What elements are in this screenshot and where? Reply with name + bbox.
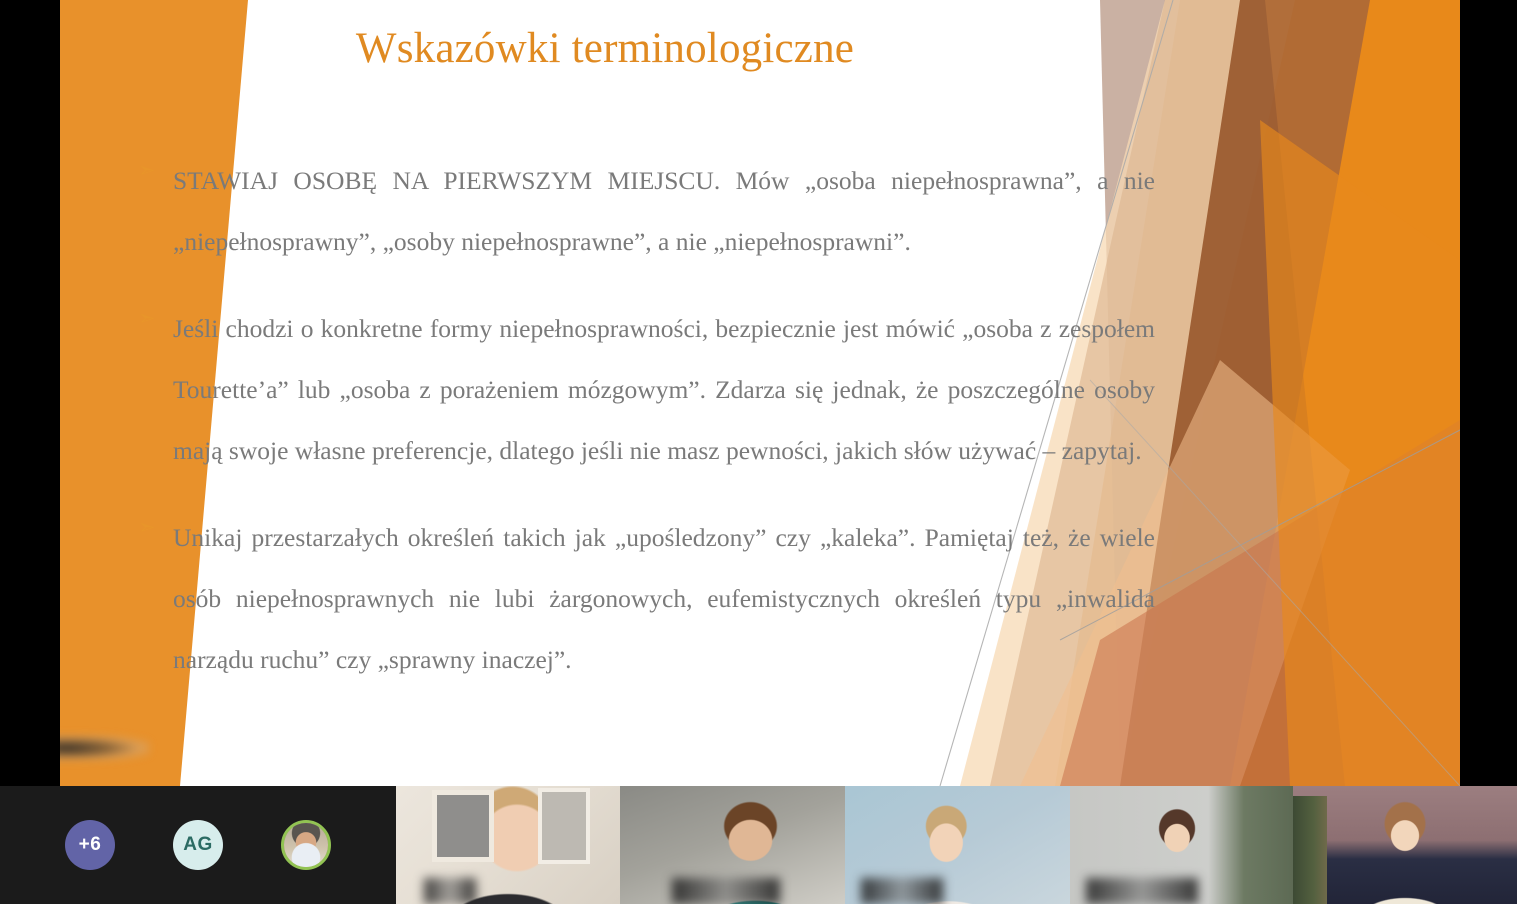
blurred-name-overlay [60,735,150,761]
slide-bullet-item: ➣ STAWIAJ OSOBĘ NA PIERWSZYM MIEJSCU. Mó… [135,150,1155,272]
avatar-photo-image [284,823,328,867]
slide-bullet-list: ➣ STAWIAJ OSOBĘ NA PIERWSZYM MIEJSCU. Mó… [135,150,1155,716]
blurred-name-label [672,878,780,904]
participant-video-tile[interactable] [1070,786,1293,904]
bullet-arrow-icon: ➣ [138,160,160,182]
slide-bullet-text: Jeśli chodzi o konkretne formy niepełnos… [173,298,1155,481]
participant-video-tile[interactable] [396,786,620,904]
slide-bullet-item: ➣ Unikaj przestarzałych określeń takich … [135,507,1155,690]
background-picture-frame-icon [432,790,494,862]
avatar-initials[interactable]: AG [173,820,223,870]
shared-screen-stage[interactable]: Wskazówki terminologiczne ➣ STAWIAJ OSOB… [0,0,1517,786]
powerpoint-slide[interactable]: Wskazówki terminologiczne ➣ STAWIAJ OSOB… [60,0,1460,786]
blurred-name-label [861,878,943,904]
slide-bullet-text: STAWIAJ OSOBĘ NA PIERWSZYM MIEJSCU. Mów … [173,150,1155,272]
slide-bullet-text: Unikaj przestarzałych określeń takich ja… [173,507,1155,690]
bullet-arrow-icon: ➣ [138,517,160,539]
meeting-screen-share-view: Wskazówki terminologiczne ➣ STAWIAJ OSOB… [0,0,1517,904]
participant-video-tile[interactable] [620,786,845,904]
bullet-arrow-icon: ➣ [138,308,160,330]
avatar-pane: +6 AG [0,786,396,904]
avatar-overflow-count[interactable]: +6 [65,820,115,870]
participant-video-tile[interactable] [845,786,1070,904]
blurred-name-label [424,878,476,904]
participant-filmstrip[interactable]: +6 AG [0,786,1517,904]
participant-video-tile[interactable] [1293,786,1517,904]
slide-bullet-item: ➣ Jeśli chodzi o konkretne formy niepełn… [135,298,1155,481]
background-picture-frame-icon [538,788,590,864]
letterbox-right [1460,0,1517,786]
background-curtain [1293,796,1327,904]
letterbox-left [0,0,60,786]
slide-title: Wskazówki terminologiczne [60,24,1150,73]
avatar-photo-active-speaker[interactable] [281,820,331,870]
blurred-name-label [1086,878,1198,904]
